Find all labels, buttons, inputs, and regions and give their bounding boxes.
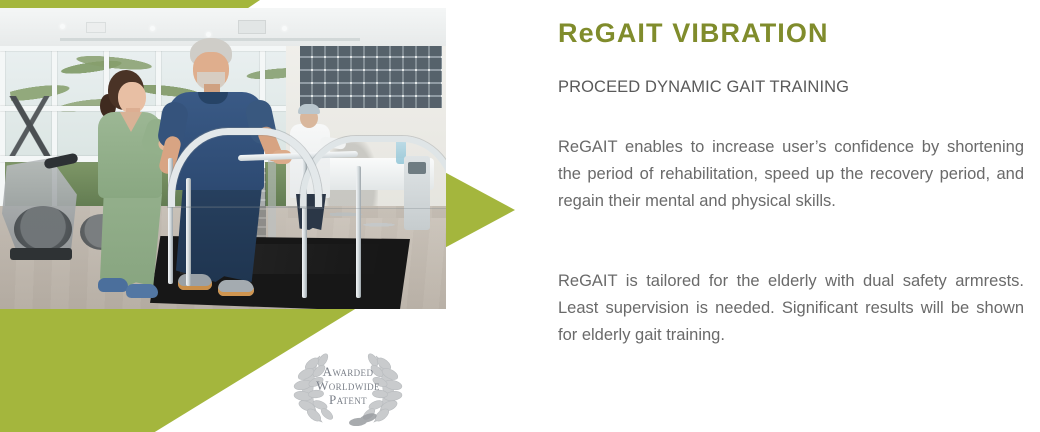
photo-exercise-bike-base — [10, 248, 72, 260]
awarded-worldwide-patent-seal: Awarded Worldwide Patent — [286, 344, 410, 426]
badge-line-2: Worldwide — [316, 379, 380, 392]
photo-downlight — [60, 24, 65, 29]
photo-therapist-scrub-pants — [100, 194, 162, 286]
photo-exercise-bike-handlebars — [0, 96, 60, 156]
photo-doctor-cap — [298, 104, 320, 114]
slide-canvas: Awarded Worldwide Patent ReGAIT VIBRATIO… — [0, 0, 1040, 432]
photo-downlight — [282, 26, 287, 31]
text-column: ReGAIT VIBRATION PROCEED DYNAMIC GAIT TR… — [558, 0, 1026, 432]
photo-ceiling-vent — [86, 22, 106, 33]
badge-line-3: Patent — [329, 393, 367, 406]
badge-line-1: Awarded — [323, 365, 374, 378]
photo-exercise-bike-flywheel — [14, 206, 72, 252]
page-title: ReGAIT VIBRATION — [558, 18, 829, 49]
body-paragraph: ReGAIT is tailored for the elderly with … — [558, 268, 1024, 349]
photo-downlight — [150, 26, 155, 31]
photo-window-mullion — [0, 46, 286, 51]
photo-ceiling-vent — [238, 20, 266, 34]
green-right-arrow-icon — [437, 168, 515, 252]
body-paragraph: ReGAIT enables to increase user’s confid… — [558, 134, 1024, 215]
photo-therapist-shoe — [98, 278, 128, 292]
badge-text-block: Awarded Worldwide Patent — [286, 344, 410, 426]
photo-downlight — [206, 32, 211, 37]
page-subtitle: PROCEED DYNAMIC GAIT TRAINING — [558, 78, 849, 97]
gait-training-rehabilitation-photo — [0, 8, 446, 309]
photo-patient-shoe — [218, 280, 254, 296]
photo-therapist-shoe — [126, 284, 158, 298]
photo-patient-shoe — [178, 274, 212, 290]
